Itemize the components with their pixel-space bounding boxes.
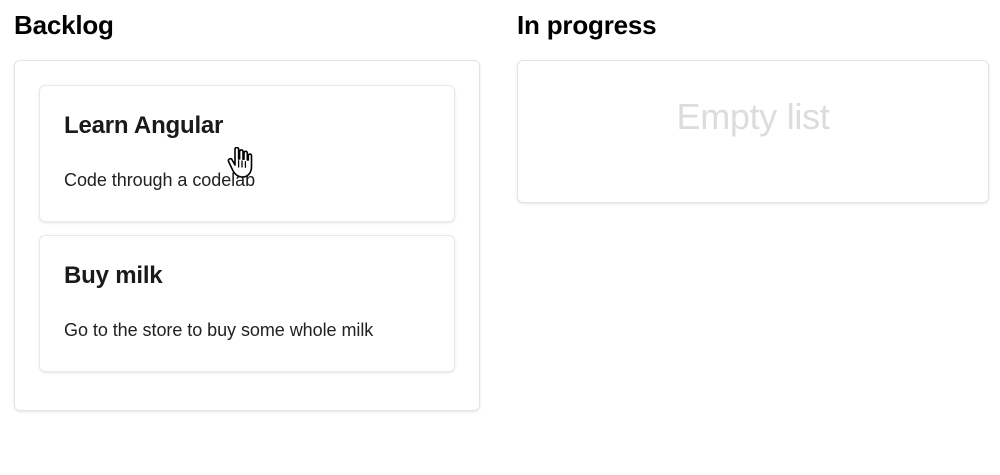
column-title-backlog: Backlog <box>14 0 480 40</box>
column-backlog: Backlog Learn Angular Code through a cod… <box>14 0 480 411</box>
task-card[interactable]: Learn Angular Code through a codelab <box>39 85 455 222</box>
column-in-progress: In progress Empty list <box>517 0 989 203</box>
task-card-title: Buy milk <box>64 262 430 290</box>
task-card-title: Learn Angular <box>64 112 430 140</box>
task-card[interactable]: Buy milk Go to the store to buy some who… <box>39 235 455 372</box>
task-card-description: Code through a codelab <box>64 169 430 191</box>
task-card-description: Go to the store to buy some whole milk <box>64 319 430 341</box>
drop-list-in-progress[interactable]: Empty list <box>517 60 989 203</box>
column-title-in-progress: In progress <box>517 0 989 40</box>
empty-list-placeholder: Empty list <box>518 95 988 139</box>
drop-list-backlog[interactable]: Learn Angular Code through a codelab Buy… <box>14 60 480 411</box>
kanban-board: Backlog Learn Angular Code through a cod… <box>0 0 1000 475</box>
